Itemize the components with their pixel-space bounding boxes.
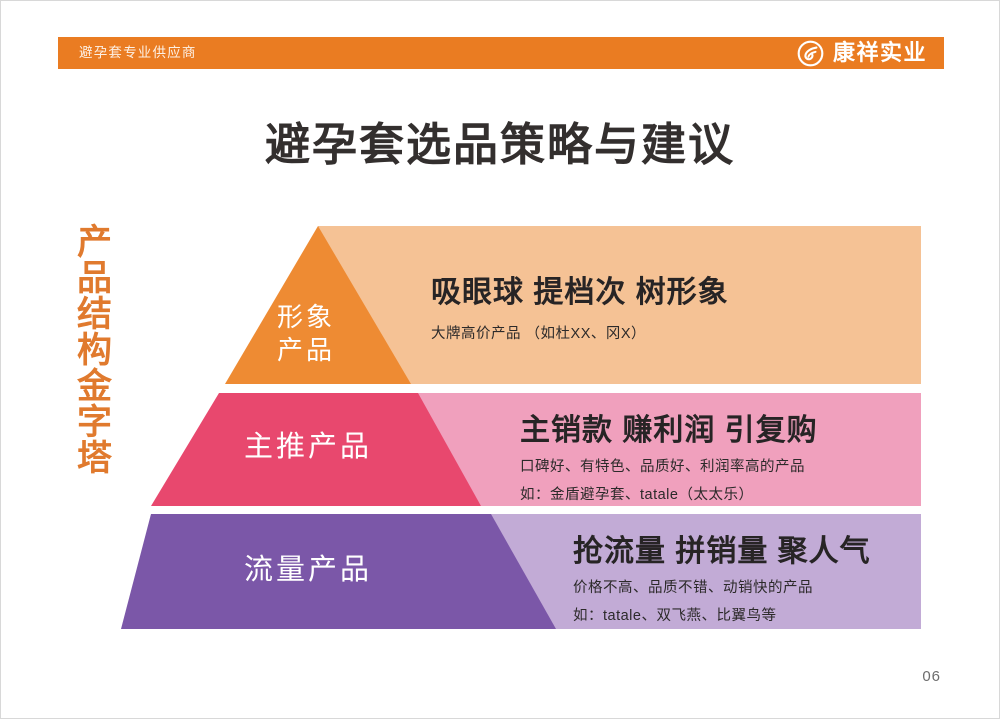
logo-company-name: 康祥实业 — [833, 40, 927, 66]
tier3-headline: 抢流量 拼销量 聚人气 — [573, 532, 871, 572]
tier-body-image-product: 吸眼球 提档次 树形象 大牌高价产品 （如杜XX、冈X） — [431, 273, 729, 346]
swirl-circle-logo-icon — [797, 40, 824, 67]
tier-label-image-product: 形象 产品 — [277, 301, 335, 367]
tier1-headline: 吸眼球 提档次 树形象 — [431, 273, 729, 313]
slide-canvas: 避孕套专业供应商 康祥实业 避孕套选品策略与建议 产品结构金字塔 形象 产品 吸… — [0, 0, 1000, 719]
tier1-subtitle-1: 大牌高价产品 （如杜XX、冈X） — [431, 322, 729, 346]
tier-label-main-product: 主推产品 — [244, 429, 372, 465]
tier2-headline: 主销款 赚利润 引复购 — [520, 411, 818, 451]
header-tagline: 避孕套专业供应商 — [79, 42, 197, 64]
tier-label-traffic-product: 流量产品 — [244, 552, 372, 588]
page-number: 06 — [922, 668, 941, 686]
tier-body-main-product: 主销款 赚利润 引复购 口碑好、有特色、品质好、利润率高的产品 如：金盾避孕套、… — [520, 411, 818, 507]
side-caption: 产品结构金字塔 — [63, 223, 111, 475]
page-title: 避孕套选品策略与建议 — [1, 115, 999, 175]
company-logo: 康祥实业 — [797, 39, 927, 67]
tier-body-traffic-product: 抢流量 拼销量 聚人气 价格不高、品质不错、动销快的产品 如：tatale、双飞… — [573, 532, 871, 628]
tier2-subtitle-2: 如：金盾避孕套、tatale（太太乐） — [520, 483, 818, 507]
tier1-label-line2: 产品 — [277, 334, 335, 367]
tier3-subtitle-1: 价格不高、品质不错、动销快的产品 — [573, 576, 871, 600]
tier3-subtitle-2: 如：tatale、双飞燕、比翼鸟等 — [573, 604, 871, 628]
tier2-subtitle-1: 口碑好、有特色、品质好、利润率高的产品 — [520, 455, 818, 479]
tier1-label-line1: 形象 — [277, 301, 335, 334]
